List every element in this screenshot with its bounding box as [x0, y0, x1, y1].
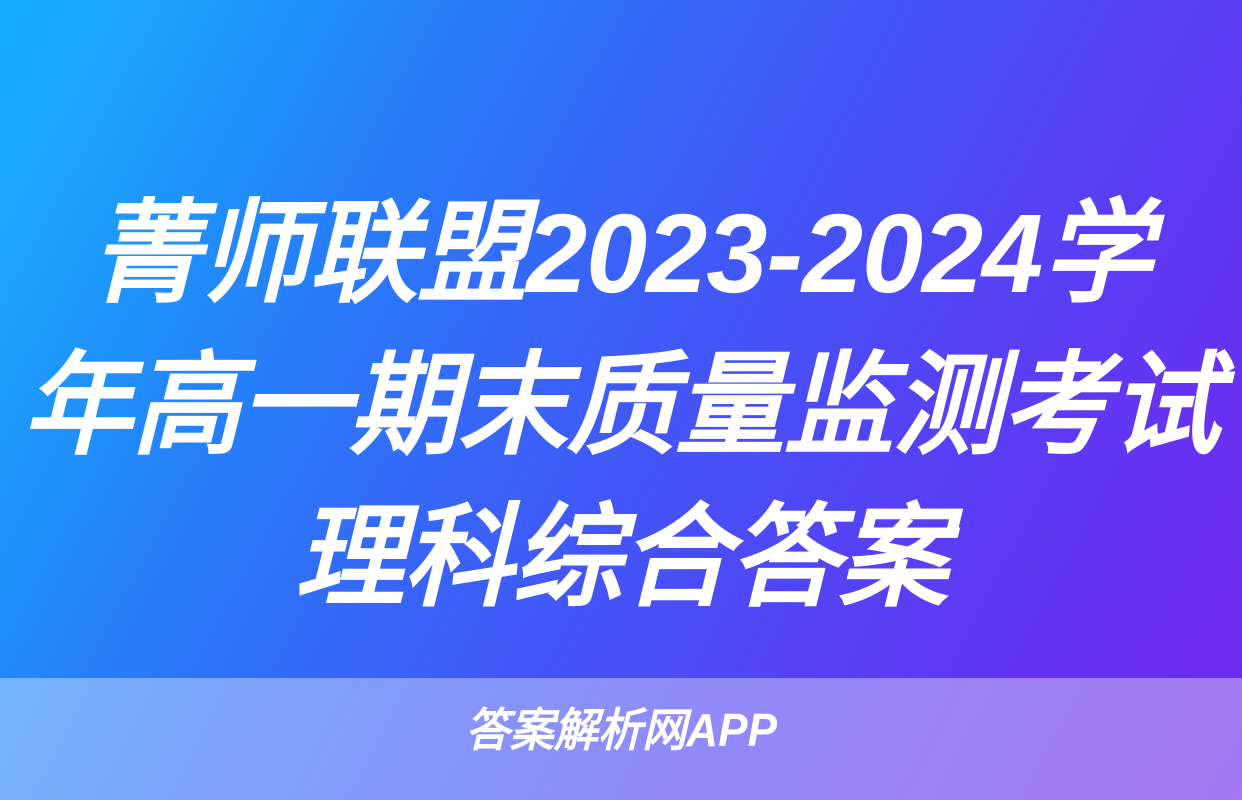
- watermark: 答案解析网APP: [0, 700, 1242, 760]
- title-line-1: 菁师联盟2023-2024学: [12, 178, 1229, 330]
- watermark-label: 答案解析网APP: [465, 700, 777, 760]
- page-title: 菁师联盟2023-2024学 年高一期末质量监测考试 理科综合答案: [0, 178, 1242, 634]
- title-line-3: 理科综合答案: [12, 482, 1229, 634]
- exam-answer-banner: 菁师联盟2023-2024学 年高一期末质量监测考试 理科综合答案 答案解析网A…: [0, 0, 1242, 800]
- title-line-2: 年高一期末质量监测考试: [12, 330, 1229, 482]
